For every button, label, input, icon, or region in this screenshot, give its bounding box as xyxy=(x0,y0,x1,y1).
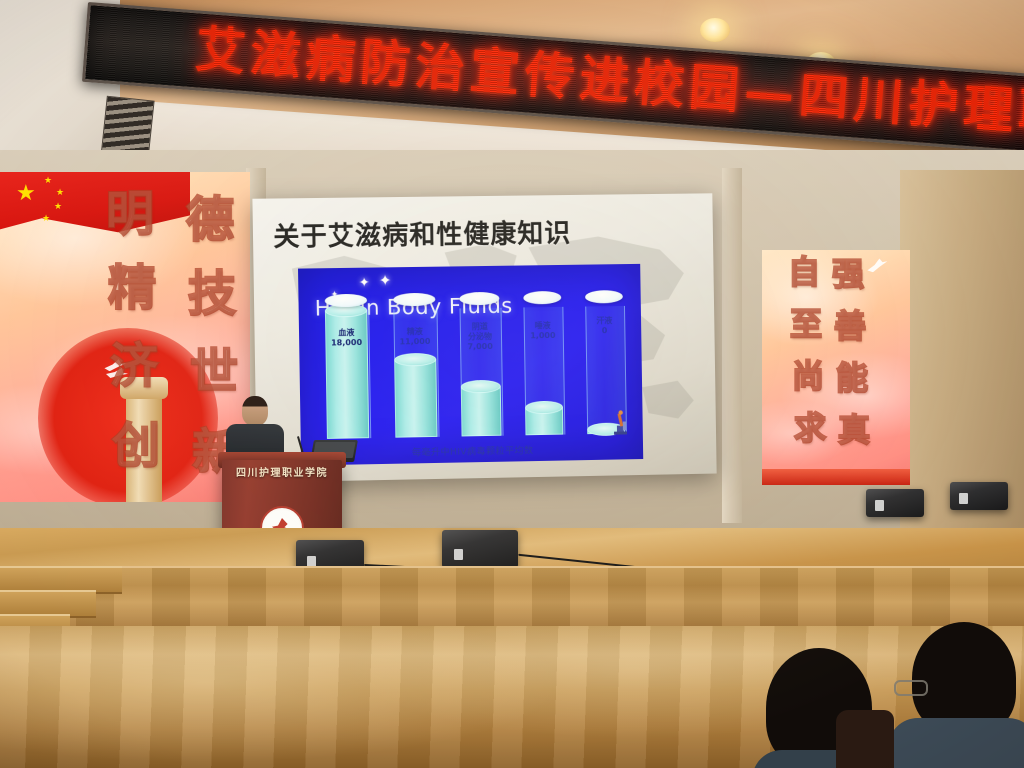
cylinder-fluid-name: 阴道 分泌物 xyxy=(468,322,492,341)
left-wall-char: 创 xyxy=(112,422,160,470)
monitor-badge xyxy=(875,500,884,511)
cylinder-lid xyxy=(523,291,561,305)
flag-star-small: ★ xyxy=(54,202,62,211)
cylinder-value: 18,000 xyxy=(331,338,362,348)
auditorium-photo: 艾滋病防治宣传进校园—四川护理职业学院站 ★ ★ ★ ★ ★ 明 精 济 创 xyxy=(0,0,1024,768)
cylinder-label: 阴道 分泌物 7,000 xyxy=(460,322,500,353)
cylinder-label: 血液 18,000 xyxy=(325,328,368,349)
left-wall-char: 德 xyxy=(186,196,234,244)
flag-star-small: ★ xyxy=(56,188,64,197)
cylinder-label: 唾液 1,000 xyxy=(524,321,562,342)
speaker-head xyxy=(242,396,268,426)
right-wood-panel xyxy=(900,170,1024,530)
cylinder-fluid-name: 汗液 xyxy=(596,316,612,325)
right-wall-char: 真 xyxy=(838,414,870,446)
right-wall-char: 自 xyxy=(788,256,820,288)
chart-cylinder: 唾液 1,000 xyxy=(523,307,563,435)
stage-monitor-speaker xyxy=(866,489,924,517)
right-wall-char: 强 xyxy=(832,258,864,290)
right-wall-char: 善 xyxy=(834,310,866,342)
cylinder-value: 7,000 xyxy=(467,342,492,351)
cylinder-fluid-name: 精液 xyxy=(407,327,423,336)
left-wall-char: 精 xyxy=(108,264,156,312)
slide-title: 关于艾滋病和性健康知识 xyxy=(273,213,571,254)
cylinder-value: 11,000 xyxy=(399,337,430,347)
cylinder-value: 1,000 xyxy=(530,331,555,340)
left-led-wall: ★ ★ ★ ★ ★ 明 精 济 创 德 技 世 新 xyxy=(0,172,250,502)
monitor-badge xyxy=(959,493,968,504)
audience-member xyxy=(906,622,1024,768)
cylinder-value: 0 xyxy=(602,326,608,335)
seat-back xyxy=(836,710,894,768)
chart-cylinder: 精液 11,000 xyxy=(393,309,437,438)
fluid-surface xyxy=(394,353,436,367)
fluid-surface xyxy=(461,380,501,394)
left-wall-char: 世 xyxy=(190,348,238,396)
podium-institution-name: 四川护理职业学院 xyxy=(222,464,342,479)
left-wall-char: 济 xyxy=(110,342,158,390)
right-wall-red-base xyxy=(762,469,910,485)
left-wall-char: 明 xyxy=(106,190,154,238)
flag-star-large: ★ xyxy=(16,182,36,204)
cylinder-label: 汗液 0 xyxy=(585,316,623,337)
chart-star-icon: ✦ xyxy=(379,273,392,288)
wall-column xyxy=(722,168,742,523)
hiv-chart: ✦ ✦ ✦ HIV in Body Fluids 血液 18,000 xyxy=(298,264,643,466)
cylinder-fluid xyxy=(394,359,437,438)
left-wall-char: 技 xyxy=(188,270,236,318)
cylinder-fluid xyxy=(525,406,563,435)
right-wall-char: 能 xyxy=(836,362,868,394)
monitor-badge xyxy=(454,549,463,560)
cylinder-fluid-name: 唾液 xyxy=(535,321,551,330)
flag-star-small: ★ xyxy=(42,214,50,223)
stage-monitor-speaker xyxy=(950,482,1008,510)
chart-star-icon: ✦ xyxy=(359,276,370,289)
cylinder-fluid-name: 血液 xyxy=(338,328,354,337)
stage-front-face xyxy=(0,566,1024,633)
cylinder-lid xyxy=(585,290,623,304)
audience-shoulder xyxy=(888,718,1024,768)
fluid-surface xyxy=(525,401,563,415)
chart-cylinder: 血液 18,000 xyxy=(325,310,369,439)
ceiling-downlight xyxy=(700,18,730,42)
eyeglasses-icon xyxy=(894,680,928,696)
right-wall-char: 至 xyxy=(790,308,822,340)
chart-cylinder: 阴道 分泌物 7,000 xyxy=(460,308,502,437)
microscope-icon xyxy=(612,409,629,435)
monitor-badge xyxy=(307,556,316,567)
cylinder-label: 精液 11,000 xyxy=(394,327,436,348)
right-led-wall: 自 至 尚 求 强 善 能 真 xyxy=(762,250,910,485)
right-wall-char: 求 xyxy=(794,412,826,444)
flag-star-small: ★ xyxy=(44,176,52,185)
right-wall-char: 尚 xyxy=(792,360,824,392)
stage-monitor-speaker xyxy=(442,530,518,568)
cylinder-fluid xyxy=(461,386,502,437)
